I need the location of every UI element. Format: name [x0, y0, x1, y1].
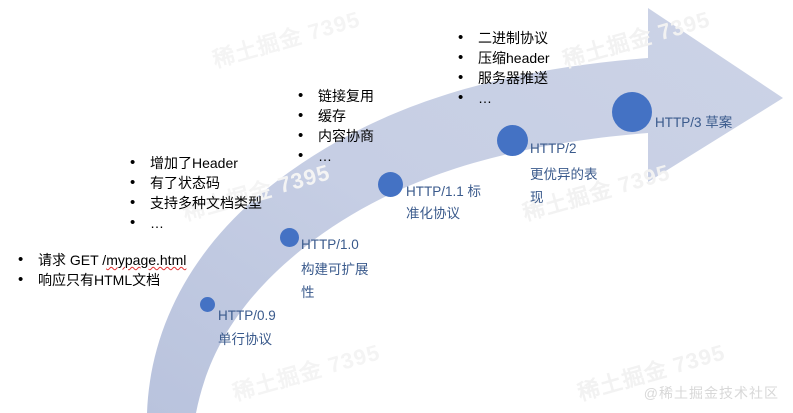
bullet-text: 响应只有HTML文档	[38, 270, 160, 290]
milestone-dot-http10	[280, 228, 299, 247]
bullet-text: 内容协商	[318, 126, 374, 146]
list-item: • 请求 GET /mypage.html	[18, 250, 186, 270]
bullet-marker-icon: •	[130, 213, 150, 233]
bullet-text: 请求 GET /mypage.html	[38, 250, 186, 270]
milestone-dot-http2	[497, 125, 528, 156]
list-item: • 响应只有HTML文档	[18, 270, 186, 290]
milestone-label-http10: HTTP/1.0	[301, 234, 359, 255]
bullet-text: 链接复用	[318, 86, 374, 106]
bullet-marker-icon: •	[458, 28, 478, 48]
list-item: • 支持多种文档类型	[130, 193, 262, 213]
list-item: • 缓存	[298, 106, 374, 126]
list-item: • 二进制协议	[458, 28, 550, 48]
bullet-text: 支持多种文档类型	[150, 193, 262, 213]
bullet-marker-icon: •	[458, 68, 478, 88]
bullet-list-http11: • 链接复用 • 缓存 • 内容协商 • …	[298, 86, 374, 166]
bullet-text: 二进制协议	[478, 28, 548, 48]
bullet-list-http09: • 请求 GET /mypage.html • 响应只有HTML文档	[18, 250, 186, 290]
milestone-label-http3: HTTP/3 草案	[655, 112, 732, 133]
milestone-desc-http10: 构建可扩展性	[301, 258, 369, 304]
bullet-marker-icon: •	[18, 250, 38, 270]
bullet-list-http2: • 二进制协议 • 压缩header • 服务器推送 • …	[458, 28, 550, 108]
milestone-label-http11: HTTP/1.1 标	[406, 181, 481, 202]
bullet-marker-icon: •	[458, 48, 478, 68]
list-item: • 内容协商	[298, 126, 374, 146]
milestone-desc-http09: 单行协议	[218, 328, 272, 351]
slide-canvas: 稀土掘金 7395 稀土掘金 7395 稀土掘金 7395 稀土掘金 7395 …	[0, 0, 793, 413]
milestone-dot-http11	[378, 172, 403, 197]
bullet-marker-icon: •	[130, 173, 150, 193]
list-item: • 链接复用	[298, 86, 374, 106]
bullet-text: …	[318, 146, 332, 166]
list-item: • …	[298, 146, 374, 166]
bullet-marker-icon: •	[130, 153, 150, 173]
bullet-list-http10: • 增加了Header • 有了状态码 • 支持多种文档类型 • …	[130, 153, 262, 233]
milestone-dot-http09	[200, 297, 215, 312]
bullet-text: …	[150, 213, 164, 233]
list-item: • 压缩header	[458, 48, 550, 68]
bullet-marker-icon: •	[458, 88, 478, 108]
milestone-desc-http11: 准化协议	[406, 202, 460, 225]
bullet-marker-icon: •	[18, 270, 38, 290]
list-item: • …	[458, 88, 550, 108]
list-item: • …	[130, 213, 262, 233]
bullet-text: …	[478, 88, 492, 108]
milestone-dot-http3	[612, 92, 652, 132]
list-item: • 有了状态码	[130, 173, 262, 193]
bullet-marker-icon: •	[298, 86, 318, 106]
bullet-text: 增加了Header	[150, 153, 238, 173]
spellcheck-word: mypage.html	[106, 252, 186, 268]
bullet-text: 服务器推送	[478, 68, 548, 88]
bullet-text: 缓存	[318, 106, 346, 126]
bullet-text: 压缩header	[478, 48, 550, 68]
milestone-label-http2: HTTP/2	[530, 138, 577, 159]
milestone-desc-http2: 更优异的表现	[530, 163, 598, 209]
bullet-text: 有了状态码	[150, 173, 220, 193]
bullet-marker-icon: •	[298, 126, 318, 146]
bullet-marker-icon: •	[130, 193, 150, 213]
bullet-marker-icon: •	[298, 106, 318, 126]
list-item: • 增加了Header	[130, 153, 262, 173]
list-item: • 服务器推送	[458, 68, 550, 88]
milestone-label-http09: HTTP/0.9	[218, 305, 276, 326]
bullet-marker-icon: •	[298, 146, 318, 166]
timeline-arrow	[0, 0, 793, 413]
brand-watermark: @稀土掘金技术社区	[644, 383, 779, 403]
